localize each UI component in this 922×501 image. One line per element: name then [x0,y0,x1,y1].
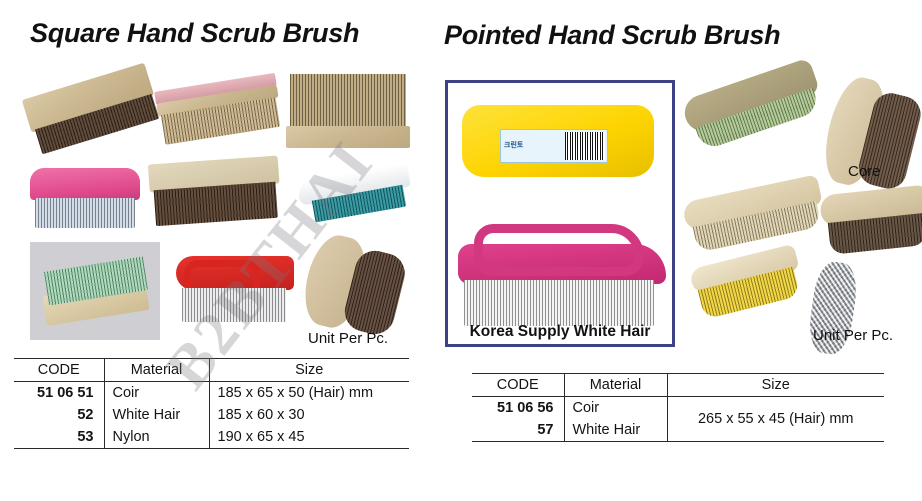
barcode-icon [565,132,605,160]
cell-code: 51 06 51 [14,382,104,405]
cell-size: 190 x 65 x 45 [209,426,409,449]
cell-material: Nylon [104,426,209,449]
korea-supply-highlight-box: 크린토 Korea Supply White Hair [445,80,675,347]
brush-wood-coir-large [22,63,163,160]
column-header-code: CODE [14,359,104,382]
table-row: 53 Nylon 190 x 65 x 45 [14,426,409,449]
brush-yellow-back-with-label: 크린토 [462,105,654,185]
cell-material: Coir [104,382,209,405]
cell-size: 185 x 60 x 30 [209,404,409,426]
brush-light-wood-dark-bristle [148,156,282,231]
brush-pink-plastic-nylon [30,168,140,230]
core-label: Core [848,163,881,180]
column-header-size: Size [209,359,409,382]
column-header-material: Material [104,359,209,382]
column-header-code: CODE [472,374,564,397]
right-product-heading: Pointed Hand Scrub Brush [444,20,780,51]
left-product-image-group [0,60,440,350]
brush-pink-top-rect [154,73,284,149]
table-row: 51 06 56 Coir 265 x 55 x 45 (Hair) mm [472,397,884,420]
table-row: 52 White Hair 185 x 60 x 30 [14,404,409,426]
left-unit-per-pc-label: Unit Per Pc. [308,330,388,347]
brush-pointed-dark-brown [819,185,922,260]
brush-magenta-pointed-white-hair [458,218,666,330]
table-row: 51 06 51 Coir 185 x 65 x 50 (Hair) mm [14,382,409,405]
cell-material: Coir [564,397,667,420]
brush-pointed-core-brown [816,73,922,204]
cell-material: White Hair [564,419,667,442]
cell-code: 51 06 56 [472,397,564,420]
cell-material: White Hair [104,404,209,426]
cell-code: 53 [14,426,104,449]
brush-coir-tan-block [286,74,410,158]
brush-red-handle-nylon [176,250,294,326]
cell-code: 57 [472,419,564,442]
brush-pointed-green-bristle [680,57,828,158]
right-spec-table: CODE Material Size 51 06 56 Coir 265 x 5… [472,373,884,442]
left-product-heading: Square Hand Scrub Brush [30,18,359,49]
cell-size-merged: 265 x 55 x 45 (Hair) mm [667,397,884,442]
column-header-material: Material [564,374,667,397]
brush-teal-white-plastic [296,163,415,234]
product-sticker-label: 크린토 [500,129,608,163]
table-header-row: CODE Material Size [14,359,409,382]
cell-size: 185 x 65 x 50 (Hair) mm [209,382,409,405]
right-unit-per-pc-label: Unit Per Pc. [813,327,893,344]
korea-supply-caption: Korea Supply White Hair [448,323,672,341]
left-spec-table: CODE Material Size 51 06 51 Coir 185 x 6… [14,358,409,449]
column-header-size: Size [667,374,884,397]
catalog-page: B2BTHAI Square Hand Scrub Brush Pointed … [0,0,922,501]
product-sticker-brand: 크린토 [501,142,565,149]
table-header-row: CODE Material Size [472,374,884,397]
brush-green-bristle-tile [30,242,160,340]
brush-pointed-cream-bristle [681,174,828,259]
cell-code: 52 [14,404,104,426]
